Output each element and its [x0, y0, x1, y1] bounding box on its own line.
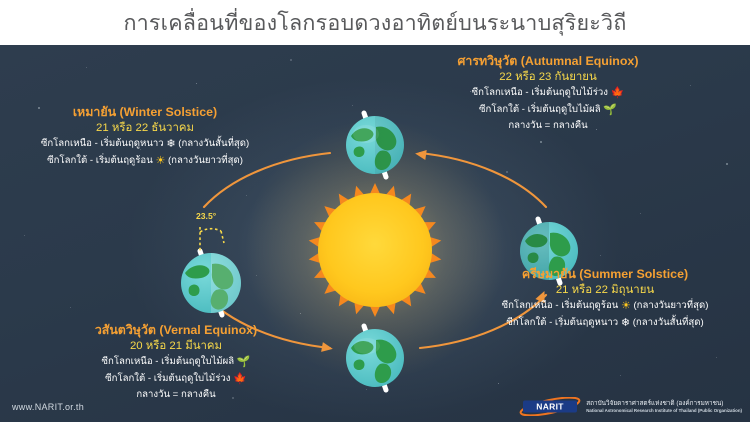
maple-leaf-icon: 🍁: [233, 373, 247, 385]
season-line: กลางวัน = กลางคืน: [26, 388, 326, 403]
season-line-text: ซีกโลกใต้ - เริ่มต้นฤดูใบไม้ผลิ: [479, 104, 601, 115]
season-line-suffix: (กลางวันสั้นที่สุด): [178, 138, 249, 149]
axial-tilt-label: 23.5°: [196, 211, 216, 221]
season-date: 21 หรือ 22 มิถุนายน: [462, 283, 748, 298]
season-title: ศารทวิษุวัต (Autumnal Equinox): [398, 54, 698, 70]
page-title: การเคลื่อนที่ของโลกรอบดวงอาทิตย์บนระนาบส…: [123, 6, 626, 40]
season-line-text: ซีกโลกใต้ - เริ่มต้นฤดูหนาว: [506, 317, 618, 328]
season-line-suffix: (กลางวันยาวที่สุด): [633, 300, 708, 311]
sun-icon: ☀: [155, 155, 165, 167]
tilt-arc: [200, 229, 221, 232]
header-bar: การเคลื่อนที่ของโลกรอบดวงอาทิตย์บนระนาบส…: [0, 0, 750, 45]
snowflake-icon: ❄: [166, 138, 175, 150]
season-date: 22 หรือ 23 กันยายน: [398, 70, 698, 85]
earth-winter-solstice: [181, 251, 241, 315]
diagram-canvas: 23.5° ศารทวิษุวัต (Autumnal Equinox) 22 …: [0, 45, 750, 422]
narit-logo: NARIT สถาบันวิจัยดาราศาสตร์แห่งชาติ (องค…: [519, 397, 742, 416]
narit-org-text: สถาบันวิจัยดาราศาสตร์แห่งชาติ (องค์การมห…: [586, 400, 742, 414]
season-line-text: ซีกโลกเหนือ - เริ่มต้นฤดูร้อน: [502, 300, 619, 311]
label-vernal-equinox: วสันตวิษุวัต (Vernal Equinox) 20 หรือ 21…: [26, 323, 326, 403]
season-line: ซีกโลกเหนือ - เริ่มต้นฤดูร้อน ☀ (กลางวัน…: [462, 298, 748, 315]
tilt-axis-ref: [221, 231, 224, 243]
season-line-suffix: (กลางวันยาวที่สุด): [168, 155, 243, 166]
season-title: วสันตวิษุวัต (Vernal Equinox): [26, 323, 326, 339]
season-title: ครีษมายัน (Summer Solstice): [462, 267, 748, 283]
season-line-text: ซีกโลกเหนือ - เริ่มต้นฤดูใบไม้ร่วง: [472, 87, 608, 98]
season-line-text: ซีกโลกเหนือ - เริ่มต้นฤดูหนาว: [41, 138, 164, 149]
infographic-poster: การเคลื่อนที่ของโลกรอบดวงอาทิตย์บนระนาบส…: [0, 0, 750, 422]
season-line-text: ซีกโลกเหนือ - เริ่มต้นฤดูใบไม้ผลิ: [102, 356, 235, 367]
earth-day-side: [211, 253, 241, 313]
narit-logo-mark: NARIT: [519, 397, 581, 416]
season-line: ซีกโลกใต้ - เริ่มต้นฤดูใบไม้ร่วง 🍁: [26, 371, 326, 388]
season-line: ซีกโลกเหนือ - เริ่มต้นฤดูใบไม้ผลิ 🌱: [26, 354, 326, 371]
maple-leaf-icon: 🍁: [611, 87, 625, 99]
season-line-text: ซีกโลกใต้ - เริ่มต้นฤดูใบไม้ร่วง: [105, 373, 230, 384]
website-url[interactable]: www.NARIT.or.th: [12, 402, 84, 412]
snowflake-icon: ❄: [621, 317, 630, 329]
label-autumnal-equinox: ศารทวิษุวัต (Autumnal Equinox) 22 หรือ 2…: [398, 54, 698, 134]
season-line: ซีกโลกเหนือ - เริ่มต้นฤดูใบไม้ร่วง 🍁: [398, 85, 698, 102]
narit-org-th: สถาบันวิจัยดาราศาสตร์แห่งชาติ (องค์การมห…: [586, 400, 742, 408]
season-line-text: ซีกโลกใต้ - เริ่มต้นฤดูร้อน: [47, 155, 153, 166]
label-winter-solstice: เหมายัน (Winter Solstice) 21 หรือ 22 ธัน…: [2, 105, 288, 170]
season-line: กลางวัน = กลางคืน: [398, 119, 698, 134]
season-date: 20 หรือ 21 มีนาคม: [26, 339, 326, 354]
season-line: ซีกโลกเหนือ - เริ่มต้นฤดูหนาว ❄ (กลางวัน…: [2, 136, 288, 153]
seedling-icon: 🌱: [603, 104, 617, 116]
narit-logo-svg: NARIT: [519, 397, 581, 416]
sun-icon: ☀: [621, 300, 631, 312]
label-summer-solstice: ครีษมายัน (Summer Solstice) 21 หรือ 22 ม…: [462, 267, 748, 332]
season-title: เหมายัน (Winter Solstice): [2, 105, 288, 121]
season-date: 21 หรือ 22 ธันวาคม: [2, 121, 288, 136]
season-line-suffix: (กลางวันสั้นที่สุด): [633, 317, 704, 328]
season-line: ซีกโลกใต้ - เริ่มต้นฤดูใบไม้ผลิ 🌱: [398, 102, 698, 119]
narit-wordmark: NARIT: [537, 402, 565, 412]
narit-org-en: National Astronomical Research Institute…: [586, 408, 742, 414]
season-line: ซีกโลกใต้ - เริ่มต้นฤดูหนาว ❄ (กลางวันสั…: [462, 315, 748, 332]
season-line: ซีกโลกใต้ - เริ่มต้นฤดูร้อน ☀ (กลางวันยา…: [2, 153, 288, 170]
axial-tilt-marker: [200, 227, 224, 252]
sun-disc: [318, 193, 432, 307]
seedling-icon: 🌱: [237, 356, 251, 368]
